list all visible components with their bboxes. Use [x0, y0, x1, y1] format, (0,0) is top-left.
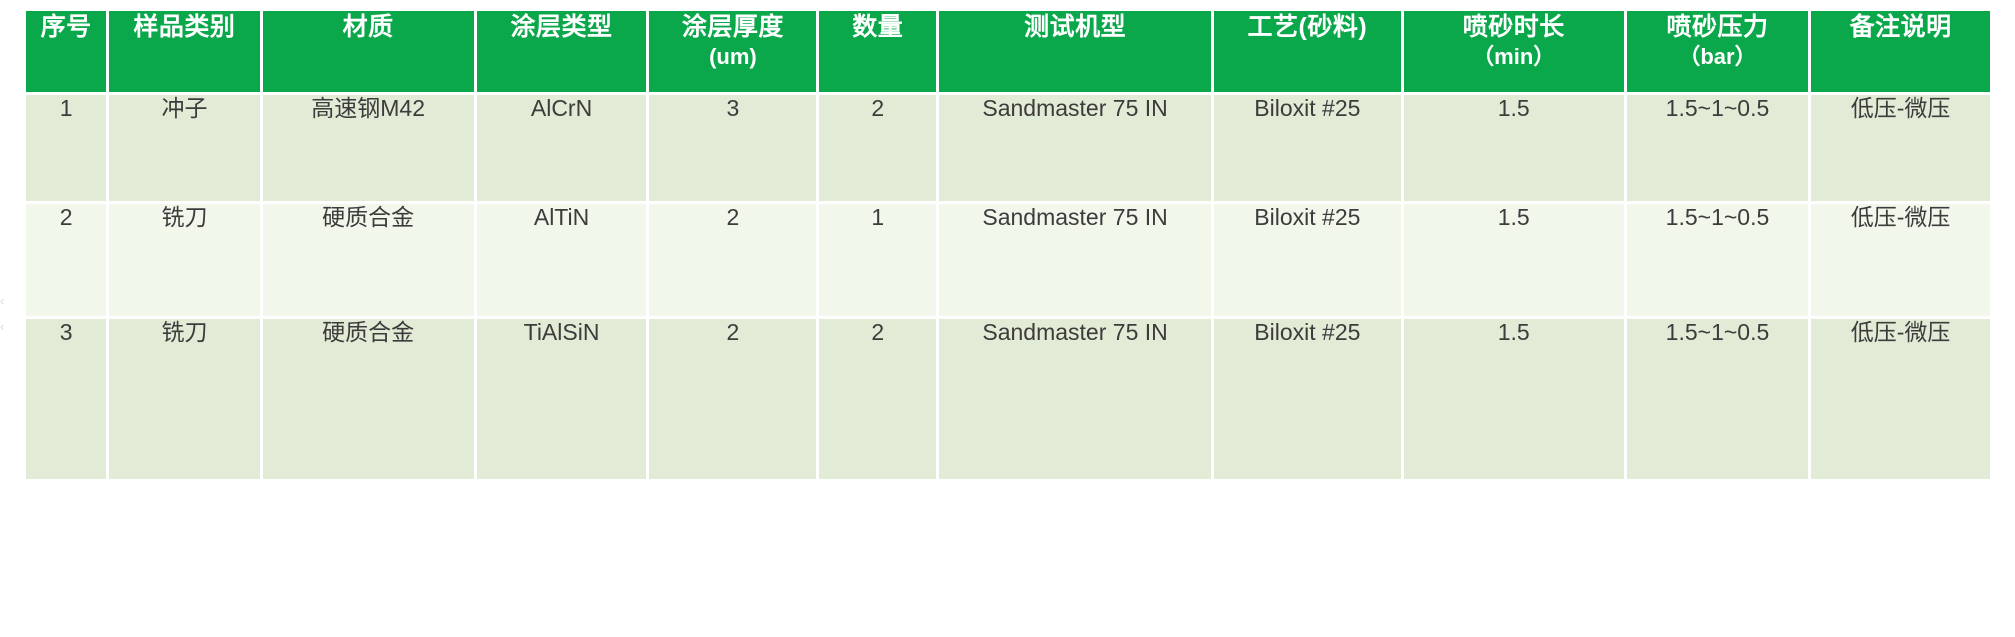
header-label: 喷砂压力: [1666, 13, 1768, 41]
header-unit: （min）: [1404, 43, 1624, 71]
header-row: 序号 样品类别 材质 涂层类型 涂层厚度 (um) 数量: [26, 11, 1990, 92]
header-label: 测试机型: [1024, 13, 1126, 41]
column-header-index[interactable]: 序号: [26, 11, 106, 92]
cell-material[interactable]: 硬质合金: [263, 204, 474, 316]
cell-blast-time[interactable]: 1.5: [1404, 204, 1624, 316]
header-label: 样品类别: [133, 13, 235, 41]
header-unit: （bar）: [1627, 43, 1808, 71]
table-row[interactable]: 3 铣刀 硬质合金 TiAlSiN 2 2 Sandmaster 75 IN B…: [26, 319, 1990, 479]
cell-remark[interactable]: 低压-微压: [1811, 204, 1990, 316]
cell-sample-type[interactable]: 铣刀: [109, 204, 259, 316]
column-header-process-media[interactable]: 工艺(砂料): [1214, 11, 1401, 92]
header-label: 数量: [852, 13, 903, 41]
column-header-coating-type[interactable]: 涂层类型: [477, 11, 647, 92]
column-header-remark[interactable]: 备注说明: [1811, 11, 1990, 92]
cell-process-media[interactable]: Biloxit #25: [1214, 95, 1401, 201]
cell-coating-thickness[interactable]: 2: [649, 204, 816, 316]
cell-sample-type[interactable]: 铣刀: [109, 319, 259, 479]
cell-test-machine[interactable]: Sandmaster 75 IN: [939, 204, 1211, 316]
column-header-material[interactable]: 材质: [263, 11, 474, 92]
column-header-coating-thickness[interactable]: 涂层厚度 (um): [649, 11, 816, 92]
cell-blast-pressure[interactable]: 1.5~1~0.5: [1627, 319, 1808, 479]
cell-coating-thickness[interactable]: 3: [649, 95, 816, 201]
column-header-sample-type[interactable]: 样品类别: [109, 11, 259, 92]
cell-sample-type[interactable]: 冲子: [109, 95, 259, 201]
cell-coating-type[interactable]: AlCrN: [477, 95, 647, 201]
cell-coating-type[interactable]: TiAlSiN: [477, 319, 647, 479]
left-edge-artifact-bottom: ‹: [0, 318, 14, 337]
cell-index[interactable]: 3: [26, 319, 106, 479]
cell-coating-type[interactable]: AlTiN: [477, 204, 647, 316]
cell-quantity[interactable]: 2: [819, 319, 936, 479]
cell-material[interactable]: 硬质合金: [263, 319, 474, 479]
header-label: 材质: [343, 13, 394, 41]
cell-remark[interactable]: 低压-微压: [1811, 319, 1990, 479]
header-label: 涂层厚度: [682, 13, 784, 41]
cell-blast-pressure[interactable]: 1.5~1~0.5: [1627, 204, 1808, 316]
header-label: 喷砂时长: [1463, 13, 1565, 41]
cell-blast-pressure[interactable]: 1.5~1~0.5: [1627, 95, 1808, 201]
cell-coating-thickness[interactable]: 2: [649, 319, 816, 479]
header-unit: (um): [649, 43, 816, 71]
cell-test-machine[interactable]: Sandmaster 75 IN: [939, 319, 1211, 479]
header-label: 工艺(砂料): [1248, 13, 1368, 41]
column-header-test-machine[interactable]: 测试机型: [939, 11, 1211, 92]
header-label: 涂层类型: [511, 13, 613, 41]
cell-process-media[interactable]: Biloxit #25: [1214, 204, 1401, 316]
sample-parameters-table: 序号 样品类别 材质 涂层类型 涂层厚度 (um) 数量: [23, 8, 1993, 482]
cell-process-media[interactable]: Biloxit #25: [1214, 319, 1401, 479]
cell-index[interactable]: 1: [26, 95, 106, 201]
column-header-blast-pressure[interactable]: 喷砂压力 （bar）: [1627, 11, 1808, 92]
spreadsheet-canvas: ‹ ‹ 序号 样品类别 材质 涂层类型 涂层厚度: [0, 0, 2015, 637]
cell-index[interactable]: 2: [26, 204, 106, 316]
table-body: 1 冲子 高速钢M42 AlCrN 3 2 Sandmaster 75 IN B…: [26, 95, 1990, 479]
table-header: 序号 样品类别 材质 涂层类型 涂层厚度 (um) 数量: [26, 11, 1990, 92]
cell-blast-time[interactable]: 1.5: [1404, 319, 1624, 479]
cell-remark[interactable]: 低压-微压: [1811, 95, 1990, 201]
column-header-blast-time[interactable]: 喷砂时长 （min）: [1404, 11, 1624, 92]
cell-material[interactable]: 高速钢M42: [263, 95, 474, 201]
cell-quantity[interactable]: 1: [819, 204, 936, 316]
left-edge-artifact-top: ‹: [0, 292, 14, 311]
table-row[interactable]: 2 铣刀 硬质合金 AlTiN 2 1 Sandmaster 75 IN Bil…: [26, 204, 1990, 316]
cell-quantity[interactable]: 2: [819, 95, 936, 201]
header-label: 序号: [41, 13, 92, 41]
cell-blast-time[interactable]: 1.5: [1404, 95, 1624, 201]
column-header-quantity[interactable]: 数量: [819, 11, 936, 92]
cell-test-machine[interactable]: Sandmaster 75 IN: [939, 95, 1211, 201]
table-row[interactable]: 1 冲子 高速钢M42 AlCrN 3 2 Sandmaster 75 IN B…: [26, 95, 1990, 201]
header-label: 备注说明: [1850, 13, 1952, 41]
